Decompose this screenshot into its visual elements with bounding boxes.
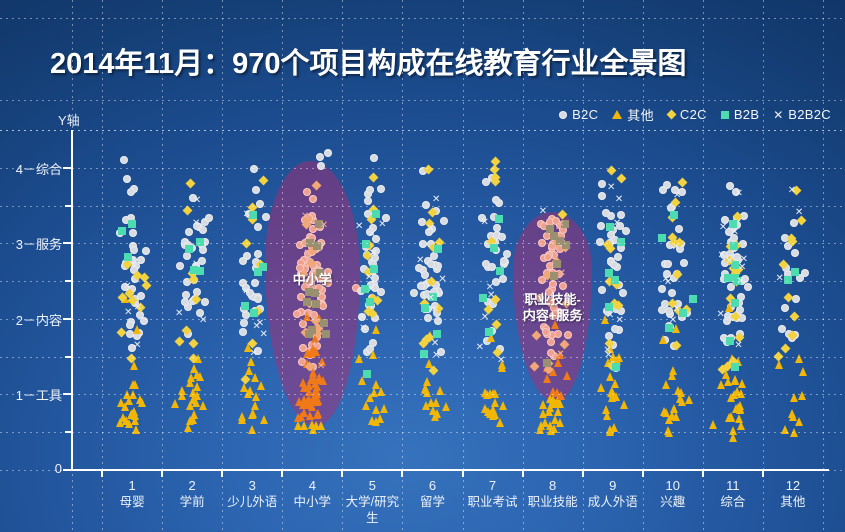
point-other <box>781 425 789 434</box>
point-b2c <box>123 175 131 183</box>
point-b2b <box>496 267 504 275</box>
point-b2b2c: ✕ <box>661 275 671 285</box>
point-other <box>491 398 499 407</box>
point-b2b2c: ✕ <box>122 282 132 292</box>
point-other <box>136 395 144 404</box>
point-b2b2c: ✕ <box>538 207 548 217</box>
point-b2c <box>252 186 260 194</box>
point-other <box>380 404 388 413</box>
x-tick <box>341 469 343 477</box>
point-b2b2c: ✕ <box>430 305 440 315</box>
x-tick-label-5: 5大学/研究生 <box>344 478 400 526</box>
y-tick-label: 1－工具 <box>16 385 62 404</box>
point-b2c <box>185 228 193 236</box>
x-tick-name: 留学 <box>404 494 460 510</box>
point-b2c <box>424 314 432 322</box>
point-b2b2c: ✕ <box>496 356 506 366</box>
point-other <box>609 389 617 398</box>
point-b2b <box>658 234 666 242</box>
x-tick-number: 8 <box>525 478 581 494</box>
point-other <box>427 398 435 407</box>
point-other <box>659 335 667 344</box>
point-other <box>238 412 246 421</box>
point-other <box>260 415 268 424</box>
point-other <box>798 391 806 400</box>
point-b2c <box>500 257 508 265</box>
point-b2b2c: ✕ <box>671 243 681 253</box>
point-other <box>620 400 628 409</box>
y-axis-line <box>71 130 73 471</box>
point-c2c <box>781 344 791 354</box>
point-b2b2c: ✕ <box>557 269 567 279</box>
point-other <box>543 374 551 383</box>
point-c2c <box>258 175 268 185</box>
point-other <box>294 421 302 430</box>
point-other <box>790 428 798 437</box>
point-c2c <box>490 164 500 174</box>
point-b2c <box>176 262 184 270</box>
x-tick-number: 12 <box>765 478 821 494</box>
legend-label: 其他 <box>627 105 654 124</box>
point-b2b <box>128 220 136 228</box>
point-b2b <box>250 309 258 317</box>
point-b2b2c: ✕ <box>377 220 387 230</box>
point-b2b <box>434 245 442 253</box>
point-b2b <box>320 319 328 327</box>
point-b2b <box>670 211 678 219</box>
point-other <box>727 413 735 422</box>
point-other <box>129 390 137 399</box>
point-b2b2c: ✕ <box>123 308 133 318</box>
y-tick-label: 0 <box>55 461 62 476</box>
point-b2b2c: ✕ <box>606 183 616 193</box>
point-other <box>313 410 321 419</box>
point-b2b2c: ✕ <box>430 339 440 349</box>
point-b2b2c: ✕ <box>605 311 615 321</box>
x-tick-label-3: 3少儿外语 <box>224 478 280 510</box>
point-other <box>376 414 384 423</box>
point-c2c <box>189 339 199 349</box>
square-icon <box>721 111 729 119</box>
y-tick <box>63 318 72 320</box>
point-b2b <box>196 238 204 246</box>
point-b2b2c: ✕ <box>358 324 368 334</box>
point-b2b <box>362 240 370 248</box>
point-b2c <box>377 185 385 193</box>
point-b2b <box>305 330 313 338</box>
x-tick-number: 6 <box>404 478 460 494</box>
x-tick-number: 3 <box>224 478 280 494</box>
point-other <box>133 325 141 334</box>
point-other <box>685 395 693 404</box>
point-b2b <box>495 215 503 223</box>
point-b2b2c: ✕ <box>794 208 804 218</box>
point-other <box>355 354 363 363</box>
page-title: 2014年11月：970个项目构成在线教育行业全景图 <box>50 40 687 82</box>
point-b2c <box>499 275 507 283</box>
point-b2c <box>440 217 448 225</box>
point-b2c <box>664 260 672 268</box>
point-b2b <box>366 298 374 306</box>
point-b2c <box>251 279 259 287</box>
point-other <box>369 350 377 359</box>
point-b2b2c: ✕ <box>716 310 726 320</box>
point-other <box>597 383 605 392</box>
point-b2b <box>254 268 262 276</box>
point-b2b <box>311 289 319 297</box>
point-b2b2c: ✕ <box>426 224 436 234</box>
point-b2c <box>366 186 374 194</box>
point-b2b2c: ✕ <box>174 309 184 319</box>
point-other <box>668 371 676 380</box>
point-b2c <box>364 197 372 205</box>
point-b2b2c: ✕ <box>486 291 496 301</box>
point-b2c <box>791 249 799 257</box>
x-tick-number: 9 <box>585 478 641 494</box>
point-other <box>433 409 441 418</box>
point-b2b2c: ✕ <box>300 212 310 222</box>
point-other <box>491 389 499 398</box>
point-b2b <box>791 268 799 276</box>
point-c2c <box>789 311 799 321</box>
point-b2b2c: ✕ <box>198 316 208 326</box>
point-b2c <box>129 229 137 237</box>
point-b2b2c: ✕ <box>725 257 735 267</box>
point-b2c <box>140 317 148 325</box>
x-tick-number: 4 <box>284 478 340 494</box>
point-other <box>664 426 672 435</box>
point-c2c <box>175 336 185 346</box>
x-tick-number: 10 <box>645 478 701 494</box>
triangle-icon <box>612 110 622 119</box>
point-b2c <box>262 213 270 221</box>
x-tick-label-8: 8职业技能 <box>525 478 581 510</box>
point-b2b2c: ✕ <box>133 303 143 313</box>
point-b2c <box>309 195 317 203</box>
x-tick-name: 少儿外语 <box>224 494 280 510</box>
point-b2b2c: ✕ <box>672 305 682 315</box>
point-b2c <box>254 223 262 231</box>
point-other <box>795 417 803 426</box>
point-other <box>251 373 259 382</box>
point-c2c <box>142 281 152 291</box>
x-tick <box>161 469 163 477</box>
y-tick <box>63 167 72 169</box>
point-b2b <box>306 239 314 247</box>
legend-label: C2C <box>680 107 707 122</box>
legend: B2C其他C2CB2B✕B2B2C <box>559 105 831 124</box>
point-other <box>423 388 431 397</box>
x-tick-number: 1 <box>104 478 160 494</box>
point-other <box>117 398 125 407</box>
point-other <box>248 425 256 434</box>
chart-canvas: 2014年11月：970个项目构成在线教育行业全景图 B2C其他C2CB2B✕B… <box>0 0 845 532</box>
x-tick-label-10: 10兴趣 <box>645 478 701 510</box>
point-b2c <box>564 331 572 339</box>
point-b2c <box>239 257 247 265</box>
point-b2c <box>421 271 429 279</box>
legend-label: B2C <box>572 107 598 122</box>
point-b2b2c: ✕ <box>736 277 746 287</box>
cluster-label-1: 中小学 <box>265 272 360 288</box>
y-tick-minor <box>65 205 72 207</box>
x-tick-label-7: 7职业考试 <box>465 478 521 510</box>
point-b2c <box>498 233 506 241</box>
point-other <box>131 416 139 425</box>
point-other <box>730 390 738 399</box>
point-b2c <box>142 247 150 255</box>
point-b2c <box>254 250 262 258</box>
point-b2c <box>201 298 209 306</box>
point-b2c <box>120 156 128 164</box>
point-other <box>674 386 682 395</box>
point-b2b2c: ✕ <box>480 218 490 228</box>
point-other <box>662 380 670 389</box>
point-b2c <box>434 317 442 325</box>
point-c2c <box>607 165 617 175</box>
point-b2b <box>322 330 330 338</box>
x-tick <box>462 469 464 477</box>
point-b2b2c: ✕ <box>480 313 490 323</box>
point-b2b2c: ✕ <box>415 256 425 266</box>
y-tick-label: 3－服务 <box>16 234 62 253</box>
point-b2b2c: ✕ <box>319 221 329 231</box>
point-b2c <box>127 188 135 196</box>
point-b2c <box>663 181 671 189</box>
point-b2c <box>317 162 325 170</box>
point-b2b2c: ✕ <box>357 313 367 323</box>
x-tick-name: 中小学 <box>284 494 340 510</box>
point-b2c <box>559 282 567 290</box>
point-b2c <box>492 196 500 204</box>
point-b2c <box>598 286 606 294</box>
point-b2b2c: ✕ <box>305 309 315 319</box>
x-tick-label-1: 1母婴 <box>104 478 160 510</box>
point-other <box>130 407 138 416</box>
point-b2b2c: ✕ <box>367 230 377 240</box>
point-b2c <box>370 154 378 162</box>
y-tick-label: 4－综合 <box>16 159 62 178</box>
x-tick-name: 职业考试 <box>465 494 521 510</box>
point-b2c <box>316 153 324 161</box>
point-other <box>551 399 559 408</box>
point-b2b2c: ✕ <box>775 274 785 284</box>
point-b2b2c: ✕ <box>603 351 613 361</box>
x-tick-name: 其他 <box>765 494 821 510</box>
point-b2b2c: ✕ <box>556 350 566 360</box>
point-b2b2c: ✕ <box>734 189 744 199</box>
point-b2c <box>240 319 248 327</box>
point-b2c <box>493 224 501 232</box>
y-tick <box>63 469 72 471</box>
y-tick-label: 2－内容 <box>16 310 62 329</box>
point-other <box>372 325 380 334</box>
x-tick-label-6: 6留学 <box>404 478 460 510</box>
point-b2c <box>668 289 676 297</box>
x-tick <box>522 469 524 477</box>
x-tick <box>702 469 704 477</box>
point-b2b2c: ✕ <box>191 219 201 229</box>
legend-item-b2b2c[interactable]: ✕B2B2C <box>773 107 831 122</box>
point-c2c <box>368 173 378 183</box>
point-b2b2c: ✕ <box>311 341 321 351</box>
point-b2b2c: ✕ <box>192 196 202 206</box>
point-b2b2c: ✕ <box>668 316 678 326</box>
x-tick-name: 学前 <box>164 494 220 510</box>
x-tick-number: 7 <box>465 478 521 494</box>
point-c2c <box>617 173 627 183</box>
x-tick-number: 2 <box>164 478 220 494</box>
point-other <box>377 387 385 396</box>
point-b2c <box>792 295 800 303</box>
y-axis-labels: 01－工具2－内容3－服务4－综合 <box>0 0 62 532</box>
point-other <box>610 423 618 432</box>
legend-label: B2B2C <box>788 107 831 122</box>
point-other <box>676 394 684 403</box>
point-c2c <box>116 327 126 337</box>
x-tick <box>101 469 103 477</box>
point-b2b2c: ✕ <box>249 349 259 359</box>
point-b2b2c: ✕ <box>369 249 379 259</box>
point-b2b2c: ✕ <box>242 210 252 220</box>
point-b2b <box>485 328 493 336</box>
x-tick <box>281 469 283 477</box>
point-b2b2c: ✕ <box>426 294 436 304</box>
point-b2b2c: ✕ <box>734 341 744 351</box>
point-other <box>729 426 737 435</box>
point-b2b <box>118 227 126 235</box>
point-b2c <box>614 253 622 261</box>
x-tick-label-9: 9成人外语 <box>585 478 641 510</box>
point-other <box>193 370 201 379</box>
point-b2b <box>731 363 739 371</box>
x-tick-label-4: 4中小学 <box>284 478 340 510</box>
point-b2b2c: ✕ <box>431 195 441 205</box>
point-b2b <box>185 245 193 253</box>
x-tick-number: 11 <box>705 478 761 494</box>
x-tick <box>642 469 644 477</box>
point-b2b <box>611 276 619 284</box>
point-other <box>717 380 725 389</box>
point-b2b2c: ✕ <box>730 228 740 238</box>
point-b2b2c: ✕ <box>129 261 139 271</box>
legend-item-c2c[interactable]: C2C <box>668 107 707 122</box>
point-other <box>737 421 745 430</box>
point-other <box>252 392 260 401</box>
point-b2b2c: ✕ <box>737 263 747 273</box>
point-other <box>799 367 807 376</box>
point-other <box>189 388 197 397</box>
point-other <box>775 360 783 369</box>
point-b2b2c: ✕ <box>302 249 312 259</box>
point-b2c <box>254 295 262 303</box>
point-b2c <box>598 192 606 200</box>
point-b2c <box>137 292 145 300</box>
point-other <box>603 411 611 420</box>
point-other <box>297 412 305 421</box>
point-b2b2c: ✕ <box>438 275 448 285</box>
y-tick-minor <box>65 356 72 358</box>
point-b2b <box>303 298 311 306</box>
point-other <box>549 387 557 396</box>
point-b2c <box>781 304 789 312</box>
point-c2c <box>185 178 195 188</box>
point-b2c <box>427 260 435 268</box>
x-axis-line <box>71 469 829 471</box>
point-b2b2c: ✕ <box>672 191 682 201</box>
point-c2c <box>182 206 192 216</box>
point-c2c <box>241 239 251 249</box>
point-other <box>606 372 614 381</box>
point-b2c <box>680 259 688 267</box>
point-b2b <box>730 242 738 250</box>
point-other <box>362 401 370 410</box>
point-b2b <box>546 225 554 233</box>
point-b2c <box>597 222 605 230</box>
point-b2b2c: ✕ <box>364 273 374 283</box>
circle-icon <box>559 111 567 119</box>
point-b2c <box>199 246 207 254</box>
x-tick-name: 综合 <box>705 494 761 510</box>
point-b2b <box>784 276 792 284</box>
point-other <box>547 426 555 435</box>
point-b2b2c: ✕ <box>546 262 556 272</box>
point-b2b2c: ✕ <box>252 322 262 332</box>
legend-item-其他[interactable]: 其他 <box>612 105 654 124</box>
point-b2c <box>324 149 332 157</box>
y-tick <box>63 242 72 244</box>
legend-label: B2B <box>734 107 759 122</box>
point-b2b <box>363 370 371 378</box>
x-tick-label-2: 2学前 <box>164 478 220 510</box>
point-b2b2c: ✕ <box>316 362 326 372</box>
point-other <box>484 407 492 416</box>
x-tick-name: 母婴 <box>104 494 160 510</box>
point-b2c <box>239 328 247 336</box>
point-other <box>171 399 179 408</box>
legend-item-b2c[interactable]: B2C <box>559 107 598 122</box>
point-b2b <box>731 299 739 307</box>
plot-area: ✕✕✕✕✕✕✕✕✕✕✕✕✕✕✕✕✕✕✕✕✕✕✕✕✕✕✕✕✕✕✕✕✕✕✕✕✕✕✕✕… <box>72 130 829 470</box>
point-b2b2c: ✕ <box>132 341 142 351</box>
cluster-label-2: 职业技能- 内容+服务 <box>513 292 592 324</box>
y-tick-minor <box>65 431 72 433</box>
x-tick-name: 成人外语 <box>585 494 641 510</box>
point-b2b <box>689 295 697 303</box>
point-b2b2c: ✕ <box>556 220 566 230</box>
point-b2b2c: ✕ <box>354 222 364 232</box>
point-b2b <box>241 302 249 310</box>
point-b2b <box>612 363 620 371</box>
point-b2b2c: ✕ <box>475 343 485 353</box>
point-b2c <box>422 201 430 209</box>
grid-line-horizontal <box>0 18 845 19</box>
point-b2c <box>675 225 683 233</box>
point-b2c <box>410 289 418 297</box>
point-other <box>184 423 192 432</box>
point-b2b2c: ✕ <box>242 287 252 297</box>
legend-item-b2b[interactable]: B2B <box>721 107 759 122</box>
y-tick <box>63 393 72 395</box>
point-other <box>257 381 265 390</box>
point-b2c <box>369 339 377 347</box>
point-b2b2c: ✕ <box>787 186 797 196</box>
x-tick-name: 大学/研究生 <box>344 494 400 526</box>
x-tick <box>401 469 403 477</box>
point-b2c <box>622 227 630 235</box>
point-other <box>795 354 803 363</box>
x-tick-label-11: 11综合 <box>705 478 761 510</box>
